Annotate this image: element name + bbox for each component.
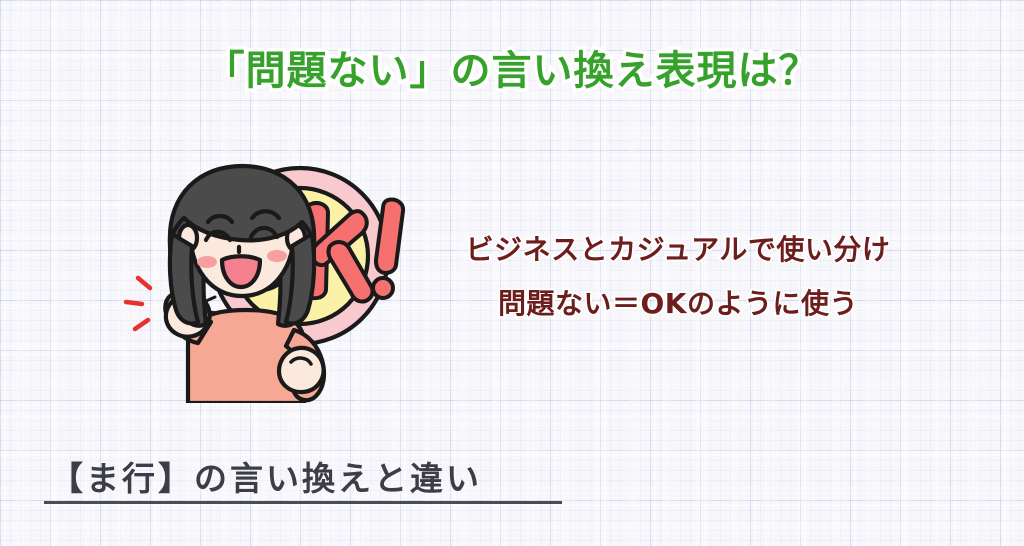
body-line-2: 問題ない＝OKのように使う <box>408 290 948 318</box>
bottom-heading: 【ま行】の言い換えと違い <box>50 452 482 500</box>
body-line-1: ビジネスとカジュアルで使い分け <box>408 236 948 264</box>
bottom-heading-underline <box>44 501 562 504</box>
motion-lines <box>126 278 150 329</box>
mouth <box>222 256 260 287</box>
illustration-svg <box>78 138 418 403</box>
girl-holding-ok-sign-illustration <box>78 138 418 403</box>
body-text-block: ビジネスとカジュアルで使い分け 問題ない＝OKのように使う <box>408 236 948 318</box>
page-title: 「問題ない」の言い換え表現は？ <box>0 38 1024 96</box>
right-hand <box>279 348 324 392</box>
slide-canvas: 「問題ない」の言い換え表現は？ <box>0 0 1024 546</box>
